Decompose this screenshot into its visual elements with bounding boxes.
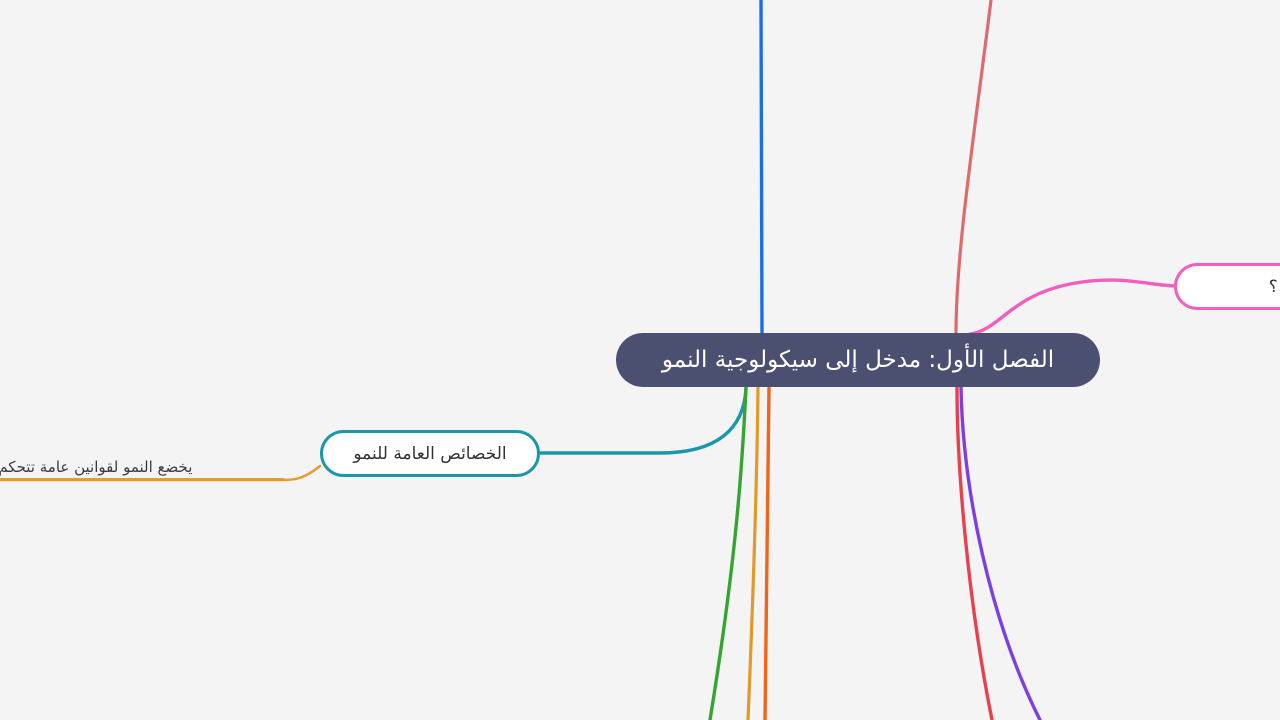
topic-node-how-to-study-growth[interactable]: س النمو ؟	[1174, 263, 1280, 310]
branch-rose-path	[956, 0, 991, 333]
branch-orange-path	[765, 388, 769, 720]
branch-purple-path	[961, 388, 1040, 720]
mindmap-canvas: الفصل الأول: مدخل إلى سيكولوجية النمو ال…	[0, 0, 1280, 720]
branch-pink-path	[970, 280, 1177, 334]
leaf-node-label: يخضع النمو لقوانين عامة تتحكم فيه :	[0, 458, 192, 476]
central-topic-node[interactable]: الفصل الأول: مدخل إلى سيكولوجية النمو	[616, 333, 1100, 387]
leaf-node-growth-laws[interactable]: يخضع النمو لقوانين عامة تتحكم فيه :	[0, 440, 284, 480]
branch-red-path	[957, 388, 992, 720]
branch-teal-path	[541, 388, 746, 453]
branch-blue-path	[761, 0, 762, 333]
topic-node-label: الخصائص العامة للنمو	[353, 444, 506, 464]
topic-node-general-characteristics[interactable]: الخصائص العامة للنمو	[320, 430, 540, 477]
central-topic-label: الفصل الأول: مدخل إلى سيكولوجية النمو	[662, 347, 1054, 373]
topic-node-label: س النمو ؟	[1269, 277, 1280, 297]
branch-green-path	[710, 388, 746, 720]
branch-amber-path	[748, 388, 758, 720]
